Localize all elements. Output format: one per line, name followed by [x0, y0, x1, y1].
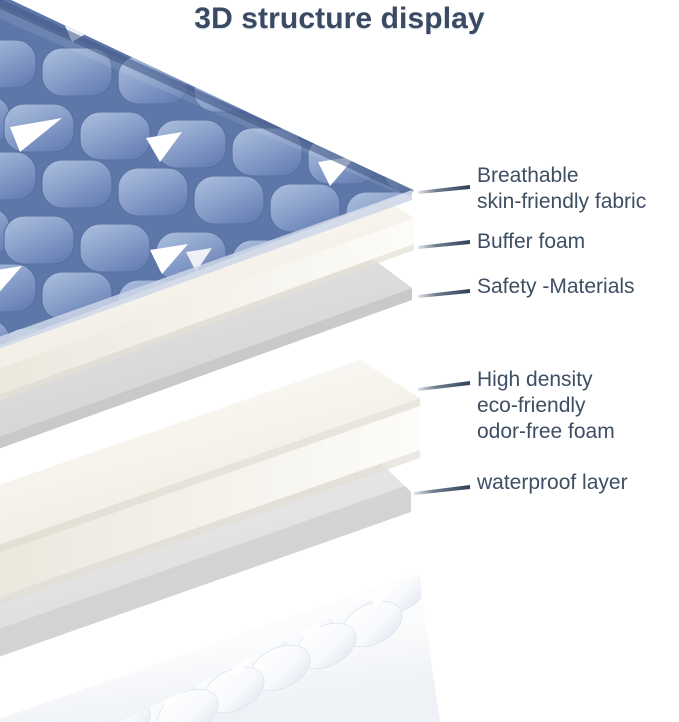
leader-line-buffer-foam: [418, 240, 470, 249]
callout-breathable-fabric: Breathable skin-friendly fabric: [477, 163, 646, 215]
leader-line-waterproof-layer: [414, 485, 470, 495]
callout-high-density-foam: High density eco-friendly odor-free foam: [477, 367, 615, 445]
leader-line-high-density-foam: [418, 381, 470, 391]
callout-waterproof-layer: waterproof layer: [477, 470, 628, 496]
callout-leader-lines: [414, 185, 470, 495]
leader-line-breathable-fabric: [418, 185, 470, 194]
callout-safety-materials: Safety -Materials: [477, 274, 635, 300]
exploded-layer-illustration: [0, 0, 679, 722]
diagram-canvas: 3D structure display: [0, 0, 679, 722]
leader-line-safety-materials: [418, 289, 470, 298]
callout-buffer-foam: Buffer foam: [477, 229, 585, 255]
